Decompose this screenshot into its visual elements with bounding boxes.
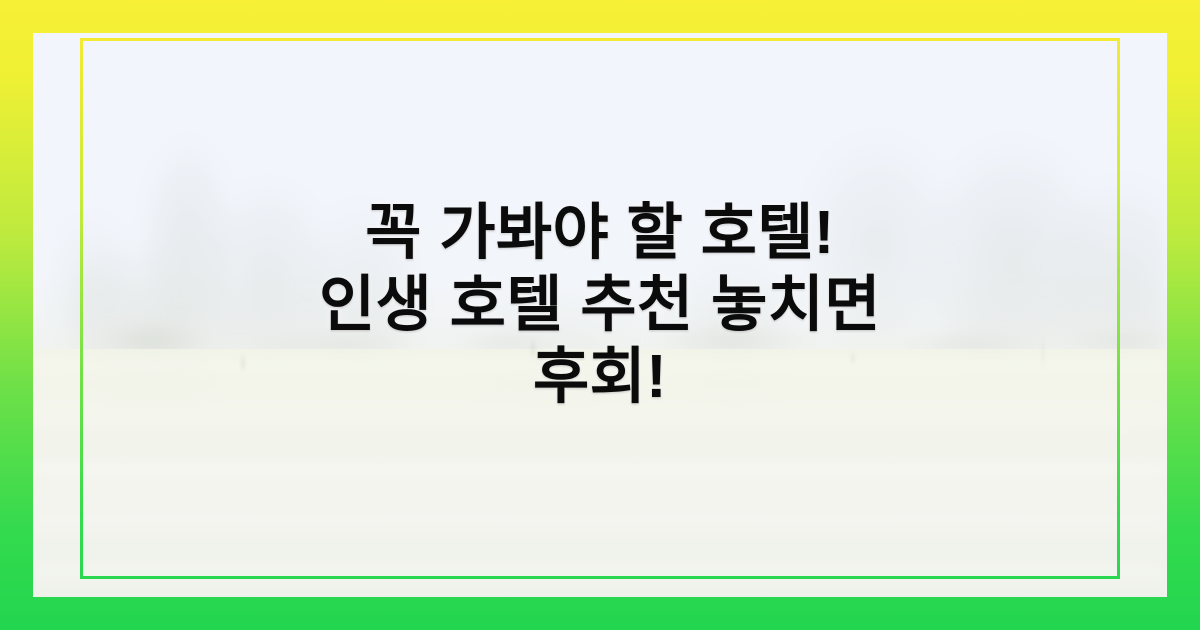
- thumbnail-card: 꼭 가봐야 할 호텔! 인생 호텔 추천 놓치면 후회!: [0, 0, 1200, 630]
- background-photo: [33, 33, 1167, 597]
- photo-figures-layer: [33, 33, 1167, 597]
